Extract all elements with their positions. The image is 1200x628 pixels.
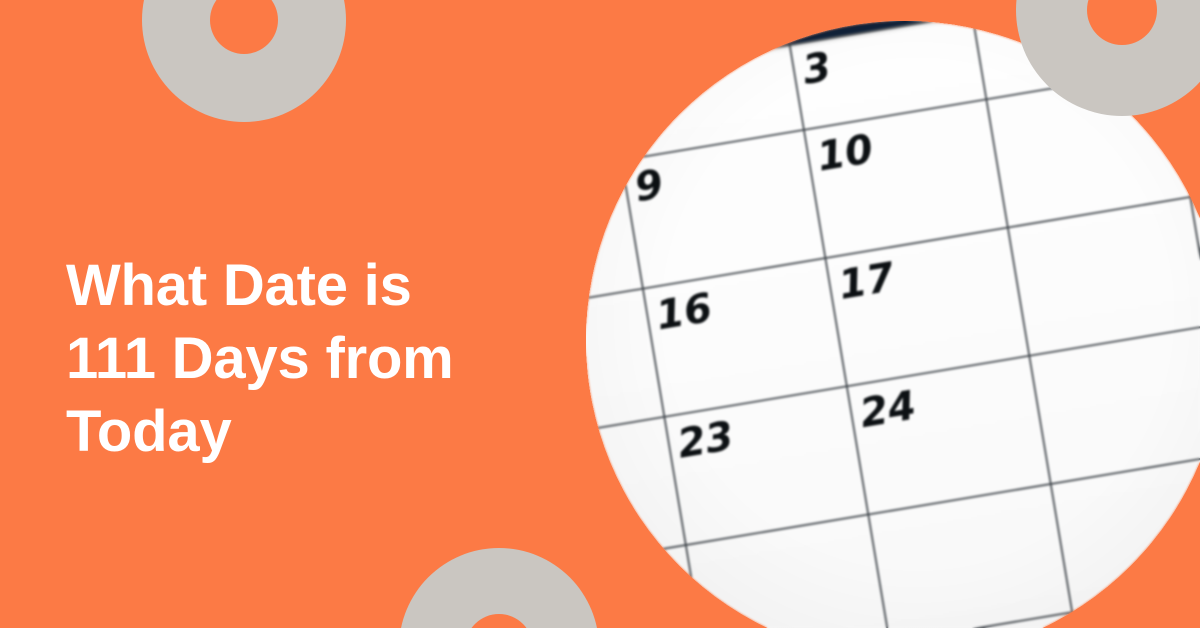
calendar-day-3: 3: [799, 44, 834, 94]
ring-hole: [465, 614, 533, 628]
calendar-day-23: 23: [674, 413, 737, 468]
grid-col-line: [971, 21, 1088, 628]
ring-hole: [210, 0, 278, 54]
blog-header-banner: What Date is 111 Days from Today: [0, 0, 1200, 628]
grid-col-line: [1153, 21, 1200, 628]
decorative-ring-top-left: [142, 0, 346, 122]
page-title: What Date is 111 Days from Today: [66, 249, 536, 468]
calendar-day-10: 10: [814, 126, 877, 181]
calendar-day-2: 2: [617, 74, 652, 124]
ring-hole: [1087, 0, 1157, 45]
headline-line-2: 111 Days from: [66, 322, 536, 395]
grid-row-line: [586, 545, 1200, 628]
headline-line-1: What Date is: [66, 249, 536, 322]
decorative-ring-bottom-left: [399, 548, 599, 628]
calendar-day-16: 16: [653, 285, 716, 340]
calendar-day-9: 9: [631, 161, 666, 211]
grid-col-line: [606, 75, 723, 628]
calendar-day-17: 17: [835, 254, 898, 309]
headline-line-3: Today: [66, 395, 536, 468]
calendar-day-24: 24: [857, 383, 920, 438]
